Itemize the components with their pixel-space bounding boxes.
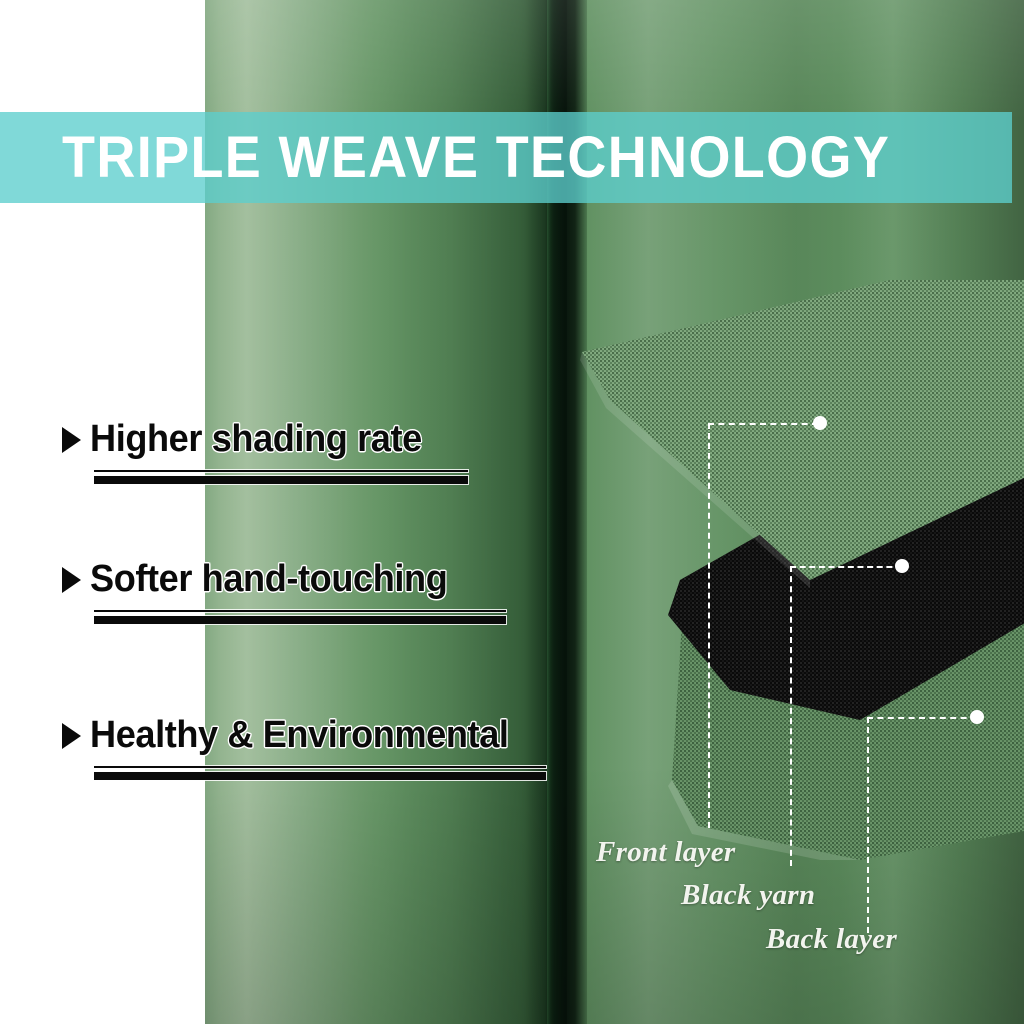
callout-line-front-horizontal: [708, 423, 818, 425]
feature-underline: [94, 766, 546, 780]
feature-underline-thick: [94, 476, 468, 484]
feature-underline-thick: [94, 616, 506, 624]
feature-item-3: Healthy & Environmental: [62, 714, 546, 780]
triple-weave-layer-diagram: [560, 280, 1024, 870]
feature-row: Softer hand-touching: [62, 558, 506, 601]
feature-underline-thick: [94, 772, 546, 780]
feature-row: Healthy & Environmental: [62, 714, 546, 757]
callout-line-front-vertical: [708, 423, 710, 828]
callout-dot-front-layer: [813, 416, 827, 430]
callout-line-back-horizontal: [867, 717, 977, 719]
callout-line-black-horizontal: [790, 566, 902, 568]
banner-title: TRIPLE WEAVE TECHNOLOGY: [62, 129, 890, 187]
feature-label: Healthy & Environmental: [90, 714, 509, 757]
callout-dot-back-layer: [970, 710, 984, 724]
label-black-yarn: Black yarn: [681, 879, 815, 912]
callout-line-back-vertical: [867, 717, 869, 933]
label-front-layer: Front layer: [596, 836, 735, 869]
feature-label: Higher shading rate: [90, 418, 422, 461]
triangle-bullet-icon: [62, 427, 81, 453]
feature-item-1: Higher shading rate: [62, 418, 468, 484]
feature-underline: [94, 610, 506, 624]
triangle-bullet-icon: [62, 723, 81, 749]
callout-line-black-vertical: [790, 566, 792, 866]
product-feature-image: Front layer Black yarn Back layer TRIPLE…: [0, 0, 1024, 1024]
label-back-layer: Back layer: [766, 923, 897, 956]
feature-label: Softer hand-touching: [90, 558, 447, 601]
title-banner: TRIPLE WEAVE TECHNOLOGY: [0, 112, 1012, 203]
feature-underline: [94, 470, 468, 484]
feature-row: Higher shading rate: [62, 418, 468, 461]
triangle-bullet-icon: [62, 567, 81, 593]
curtain-top-highlight: [205, 0, 1024, 120]
feature-item-2: Softer hand-touching: [62, 558, 506, 624]
callout-dot-black-yarn: [895, 559, 909, 573]
